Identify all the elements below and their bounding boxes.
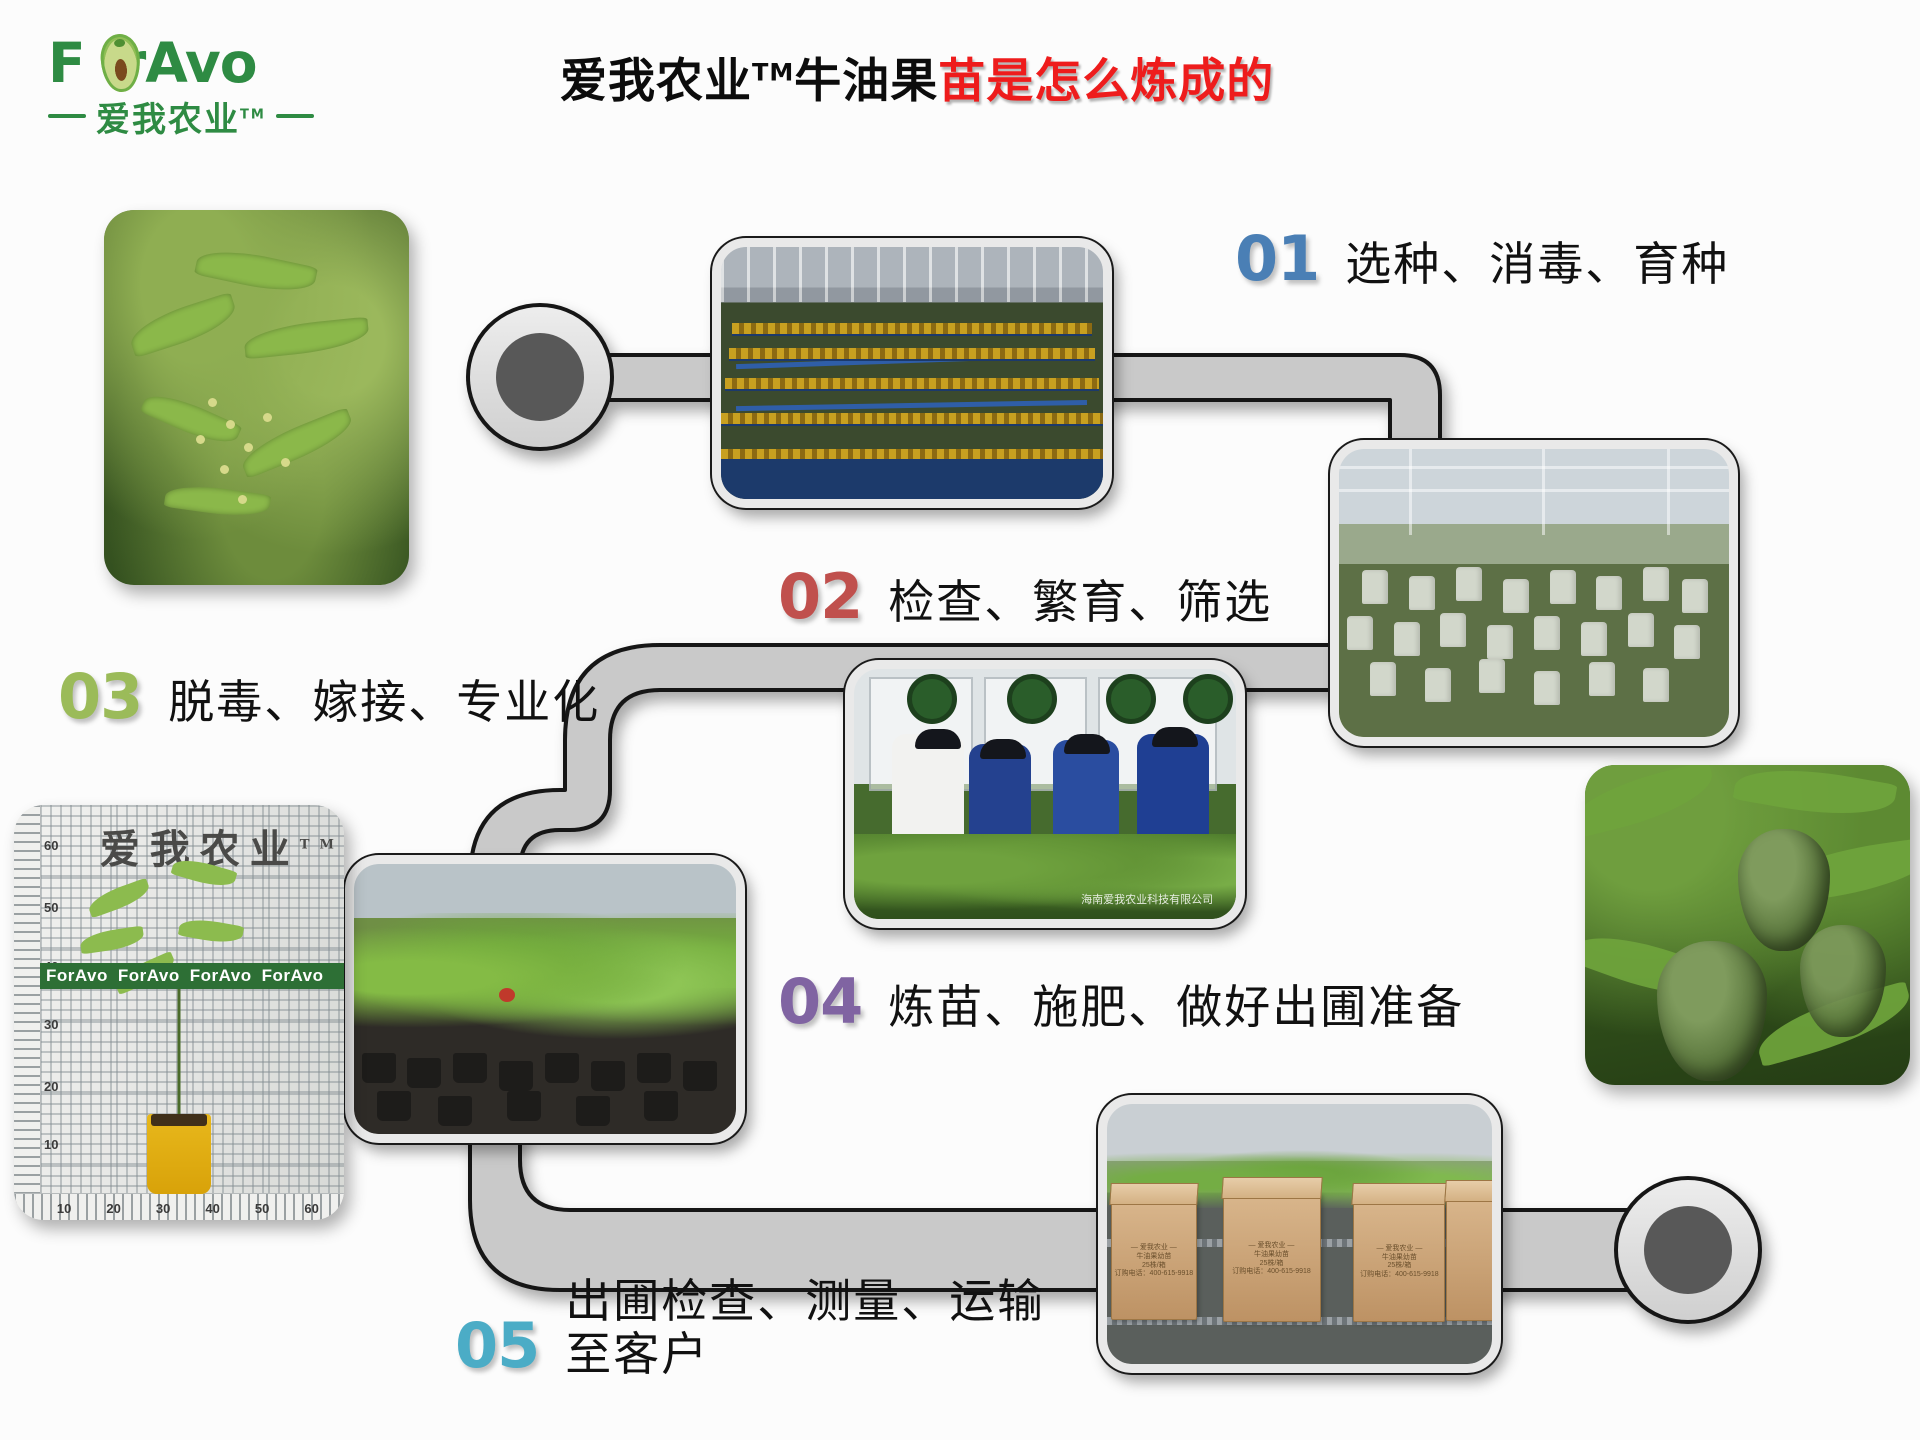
- step-02: 02 检查、繁育、筛选: [778, 560, 1272, 633]
- photo-seed-trays-image: [721, 247, 1103, 499]
- ruler-vtick-50: 50: [44, 900, 58, 915]
- photo-staff-inspection-image: 海南爱我农业科技有限公司: [854, 669, 1236, 919]
- ruler-htick-50: 50: [255, 1201, 269, 1216]
- box-label-2: — 爱我农业 — 牛油果幼苗 25株/箱 订购电话：400-615-9918: [1224, 1242, 1320, 1277]
- ruler-htick-30: 30: [156, 1201, 170, 1216]
- step-05-number: 05: [455, 1309, 539, 1382]
- logo-dash-left: [48, 114, 86, 118]
- step-04: 04 炼苗、施肥、做好出圃准备: [778, 965, 1464, 1038]
- photo-staff-inspection: 海南爱我农业科技有限公司: [845, 660, 1245, 928]
- photo-measured-seedling: 爱我农业TM 60 50 40 30 20 10 10 20 30 40 50 …: [14, 805, 344, 1220]
- box-label-1: — 爱我农业 — 牛油果幼苗 25株/箱 订购电话：400-615-9918: [1112, 1244, 1196, 1279]
- foravo-logo: ForAvo 爱我农业TM: [48, 30, 348, 145]
- ruler-vtick-10: 10: [44, 1137, 58, 1152]
- ruler-vtick-20: 20: [44, 1079, 58, 1094]
- photo-flowering-branch: [104, 210, 409, 585]
- logo-subtitle-row: 爱我农业TM: [48, 94, 348, 138]
- photo-potted-seedlings-image: [354, 864, 736, 1134]
- ruler-htick-60: 60: [304, 1201, 318, 1216]
- page-title: 爱我农业TM牛油果苗是怎么炼成的: [560, 42, 1560, 111]
- band-item-4: ForAvo: [262, 966, 324, 986]
- photo-potted-seedlings: [345, 855, 745, 1143]
- title-red: 苗是怎么炼成的: [938, 54, 1274, 109]
- title-black-1: 爱我农业: [560, 54, 752, 109]
- photo-measured-seedling-image: 爱我农业TM 60 50 40 30 20 10 10 20 30 40 50 …: [14, 805, 344, 1220]
- photo-avocado-fruit: [1585, 765, 1910, 1085]
- photo-greenhouse-bags-image: [1339, 449, 1729, 737]
- photo-shipping-boxes: — 爱我农业 — 牛油果幼苗 25株/箱 订购电话：400-615-9918 —…: [1098, 1095, 1501, 1373]
- logo-chinese-name: 爱我农业TM: [96, 92, 266, 141]
- step-01: 01 选种、消毒、育种: [1235, 222, 1729, 295]
- step-04-text: 炼苗、施肥、做好出圃准备: [888, 971, 1464, 1037]
- photo-watermark: 海南爱我农业科技有限公司: [1081, 891, 1213, 907]
- ruler-htick-20: 20: [106, 1201, 120, 1216]
- logo-dash-right: [276, 114, 314, 118]
- step-01-text: 选种、消毒、育种: [1345, 228, 1729, 294]
- ruler-vtick-60: 60: [44, 838, 58, 853]
- ribbon-end-dot: [1644, 1206, 1732, 1294]
- logo-tm-mark: TM: [240, 107, 266, 122]
- logo-wordmark-prefix: F: [48, 31, 82, 95]
- ruler-htick-10: 10: [57, 1201, 71, 1216]
- band-item-2: ForAvo: [118, 966, 180, 986]
- photo-avocado-fruit-image: [1585, 765, 1910, 1085]
- band-item-1: ForAvo: [46, 966, 108, 986]
- title-black-2: 牛油果: [794, 54, 938, 109]
- ruler-foravo-band: ForAvo ForAvo ForAvo ForAvo: [40, 963, 344, 989]
- photo-seed-trays: [712, 238, 1112, 508]
- ruler-htick-40: 40: [205, 1201, 219, 1216]
- photo-shipping-boxes-image: — 爱我农业 — 牛油果幼苗 25株/箱 订购电话：400-615-9918 —…: [1107, 1104, 1492, 1364]
- step-03-text: 脱毒、嫁接、专业化: [168, 666, 600, 732]
- step-02-number: 02: [778, 560, 862, 633]
- title-tm-mark: TM: [752, 58, 794, 86]
- step-03: 03 脱毒、嫁接、专业化: [58, 660, 600, 733]
- photo-flowering-branch-image: [104, 210, 409, 585]
- ribbon-start-terminal: [468, 305, 612, 449]
- step-04-number: 04: [778, 965, 862, 1038]
- photo-greenhouse-bags: [1330, 440, 1738, 746]
- ruler-vtick-30: 30: [44, 1017, 58, 1032]
- ribbon-start-dot: [496, 333, 584, 421]
- step-05-text: 出圃检查、测量、运输 至客户: [565, 1275, 1045, 1382]
- logo-wordmark: ForAvo: [48, 30, 348, 96]
- infographic-canvas: ForAvo 爱我农业TM 爱我农业TM牛油果苗是怎么炼成的: [0, 0, 1920, 1440]
- step-02-text: 检查、繁育、筛选: [888, 566, 1272, 632]
- band-item-3: ForAvo: [190, 966, 252, 986]
- step-03-number: 03: [58, 660, 142, 733]
- step-05: 05 出圃检查、测量、运输 至客户: [455, 1275, 1045, 1382]
- ribbon-end-terminal: [1616, 1178, 1760, 1322]
- step-01-number: 01: [1235, 222, 1319, 295]
- box-label-3: — 爱我农业 — 牛油果幼苗 25株/箱 订购电话：400-615-9918: [1354, 1245, 1444, 1280]
